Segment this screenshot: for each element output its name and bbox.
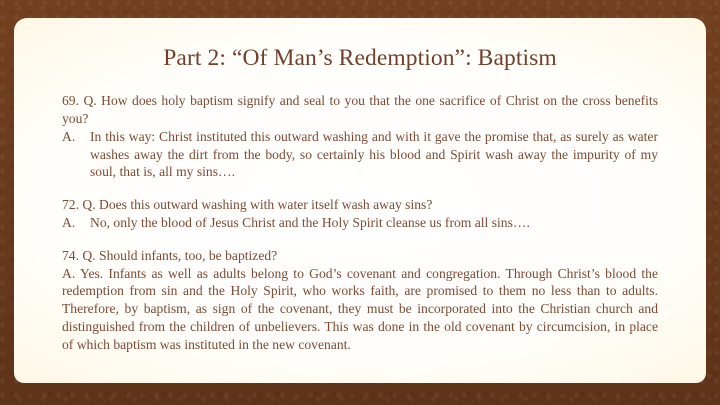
slide-content: Part 2: “Of Man’s Redemption”: Baptism 6…: [14, 18, 706, 383]
page-title: Part 2: “Of Man’s Redemption”: Baptism: [62, 44, 658, 72]
question-text-74: 74. Q. Should infants, too, be baptized?: [62, 247, 658, 265]
answer-label-69: A.: [62, 128, 90, 146]
qa-block-74: 74. Q. Should infants, too, be baptized?…: [62, 247, 658, 354]
answer-text-72: No, only the blood of Jesus Christ and t…: [90, 215, 530, 230]
question-text-72: 72. Q. Does this outward washing with wa…: [62, 196, 658, 214]
qa-block-72: 72. Q. Does this outward washing with wa…: [62, 196, 658, 232]
answer-label-74: A.: [62, 266, 80, 281]
answer-text-74: Yes. Infants as well as adults belong to…: [62, 266, 658, 352]
answer-label-72: A.: [62, 214, 90, 232]
answer-line-74: A. Yes. Infants as well as adults belong…: [62, 265, 658, 354]
answer-line-69: A.In this way: Christ instituted this ou…: [62, 128, 658, 181]
slide-frame: Part 2: “Of Man’s Redemption”: Baptism 6…: [0, 0, 720, 405]
question-text-69: 69. Q. How does holy baptism signify and…: [62, 92, 658, 128]
slide-panel: Part 2: “Of Man’s Redemption”: Baptism 6…: [14, 18, 706, 383]
answer-line-72: A.No, only the blood of Jesus Christ and…: [62, 214, 658, 232]
answer-text-69: In this way: Christ instituted this outw…: [90, 129, 658, 180]
qa-block-69: 69. Q. How does holy baptism signify and…: [62, 92, 658, 181]
